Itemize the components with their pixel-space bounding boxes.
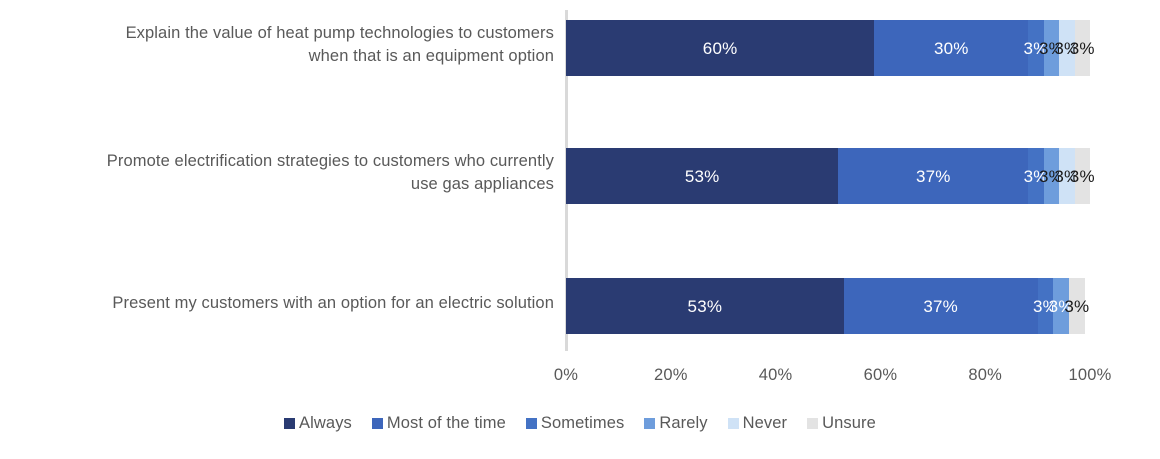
x-axis-tick-1: 20% — [654, 366, 688, 385]
bar-segment-0-0[interactable]: 60% — [566, 20, 874, 76]
legend-swatch-icon-1 — [372, 418, 383, 429]
legend-item-2[interactable]: Sometimes — [526, 414, 624, 433]
x-axis-tick-labels: 0%20%40%60%80%100% — [566, 366, 1090, 390]
bar-segment-value-1-0: 53% — [685, 168, 720, 185]
bar-segment-value-2-5: 3% — [1064, 298, 1089, 315]
bar-segment-0-1[interactable]: 30% — [874, 20, 1028, 76]
category-label-2: Present my customers with an option for … — [34, 292, 554, 315]
category-label-0: Explain the value of heat pump technolog… — [34, 22, 554, 69]
x-axis-tick-4: 80% — [968, 366, 1002, 385]
legend-item-5[interactable]: Unsure — [807, 414, 876, 433]
x-axis-tick-2: 40% — [759, 366, 793, 385]
legend-label-5: Unsure — [822, 414, 876, 433]
bar-segment-value-2-0: 53% — [688, 298, 723, 315]
legend-item-4[interactable]: Never — [728, 414, 788, 433]
legend-item-3[interactable]: Rarely — [644, 414, 707, 433]
category-label-1-line-0: Promote electrification strategies to cu… — [34, 150, 554, 173]
bar-segment-1-1[interactable]: 37% — [838, 148, 1028, 204]
legend-label-2: Sometimes — [541, 414, 624, 433]
x-axis-tick-0: 0% — [554, 366, 578, 385]
legend-label-4: Never — [743, 414, 788, 433]
legend-label-1: Most of the time — [387, 414, 506, 433]
bar-segment-value-2-1: 37% — [923, 298, 958, 315]
category-label-0-line-1: when that is an equipment option — [34, 45, 554, 68]
bar-segment-1-0[interactable]: 53% — [566, 148, 838, 204]
bar-row-2: 53%37%3%3%3% — [566, 278, 1090, 334]
legend-swatch-icon-3 — [644, 418, 655, 429]
legend-label-3: Rarely — [659, 414, 707, 433]
bar-segment-value-1-5: 3% — [1070, 168, 1095, 185]
bar-segment-2-1[interactable]: 37% — [844, 278, 1038, 334]
bar-segment-1-5[interactable]: 3% — [1075, 148, 1090, 204]
legend-label-0: Always — [299, 414, 352, 433]
category-label-1: Promote electrification strategies to cu… — [34, 150, 554, 197]
bar-segment-value-0-0: 60% — [703, 40, 738, 57]
chart-legend: AlwaysMost of the timeSometimesRarelyNev… — [0, 414, 1160, 433]
bar-segment-value-0-1: 30% — [934, 40, 969, 57]
bar-segment-2-0[interactable]: 53% — [566, 278, 844, 334]
bar-row-1: 53%37%3%3%3%3% — [566, 148, 1090, 204]
category-label-1-line-1: use gas appliances — [34, 173, 554, 196]
bar-segment-value-1-1: 37% — [916, 168, 951, 185]
legend-swatch-icon-5 — [807, 418, 818, 429]
bar-segment-2-5[interactable]: 3% — [1069, 278, 1085, 334]
x-axis-tick-3: 60% — [864, 366, 898, 385]
bar-segment-0-5[interactable]: 3% — [1075, 20, 1090, 76]
category-label-2-line-0: Present my customers with an option for … — [34, 292, 554, 315]
x-axis-tick-5: 100% — [1068, 366, 1111, 385]
legend-item-0[interactable]: Always — [284, 414, 352, 433]
bar-segment-value-0-5: 3% — [1070, 40, 1095, 57]
legend-swatch-icon-0 — [284, 418, 295, 429]
category-label-0-line-0: Explain the value of heat pump technolog… — [34, 22, 554, 45]
stacked-bar-chart: Explain the value of heat pump technolog… — [0, 0, 1160, 459]
plot-area: 60%30%3%3%3%3% 53%37%3%3%3%3% 53%37%3%3%… — [566, 10, 1090, 350]
legend-swatch-icon-2 — [526, 418, 537, 429]
legend-item-1[interactable]: Most of the time — [372, 414, 506, 433]
bar-row-0: 60%30%3%3%3%3% — [566, 20, 1090, 76]
legend-swatch-icon-4 — [728, 418, 739, 429]
